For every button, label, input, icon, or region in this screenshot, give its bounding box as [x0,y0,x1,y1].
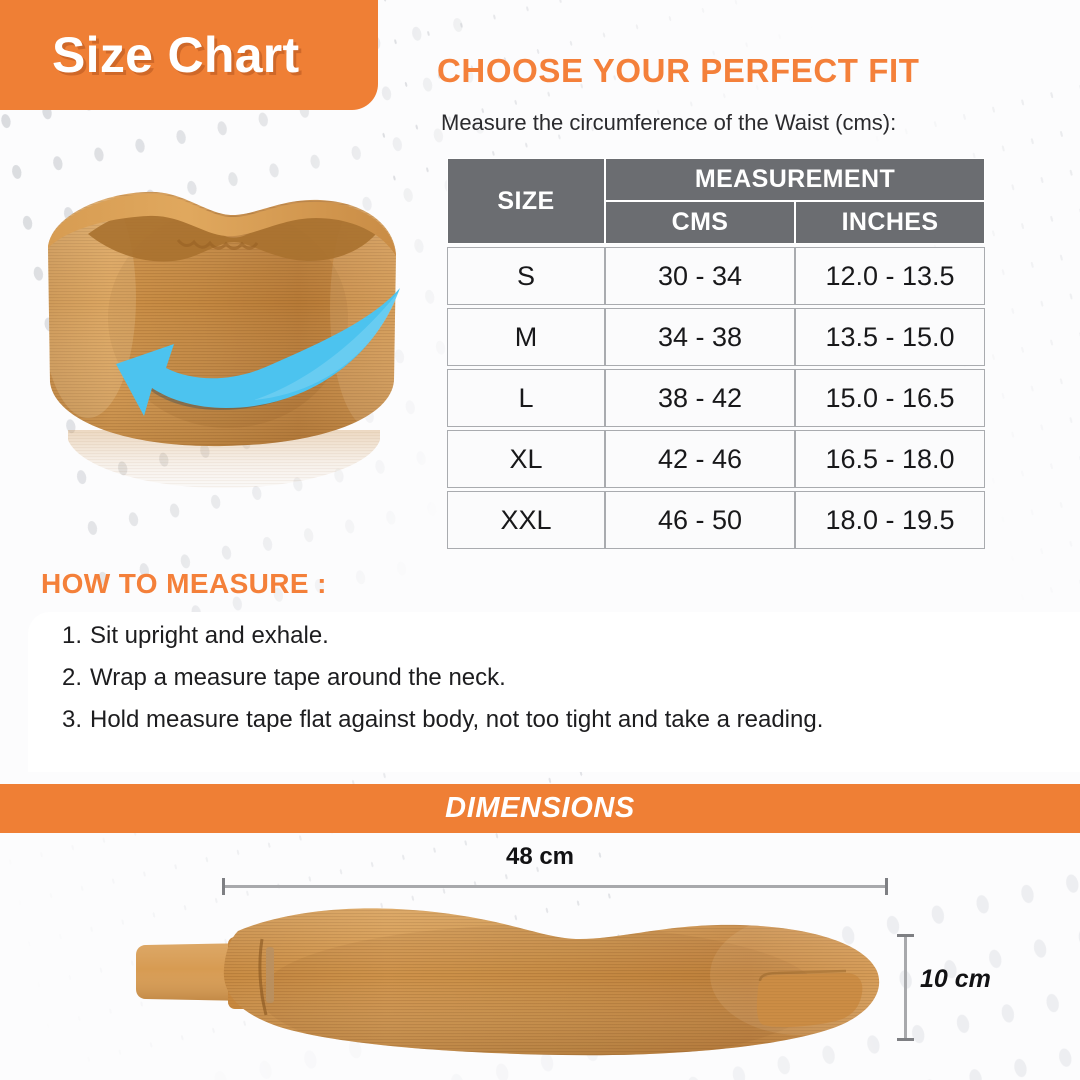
column-header-measurement: MEASUREMENT [605,158,985,201]
size-chart-table: SIZE MEASUREMENT CMS INCHES S 30 - 34 12… [447,158,985,549]
cervical-collar-flat-photo [110,895,910,1075]
size-chart-title-banner: Size Chart [0,0,378,110]
collar-body [28,168,418,468]
table-row: XL 42 - 46 16.5 - 18.0 [447,430,985,488]
list-item-text: Wrap a measure tape around the neck. [90,664,506,692]
list-item-number: 3. [62,706,90,734]
headline-choose-your-perfect-fit: CHOOSE YOUR PERFECT FIT [437,52,920,90]
length-measurement-line [222,885,888,888]
table-row: S 30 - 34 12.0 - 13.5 [447,247,985,305]
cell-cms: 42 - 46 [605,430,795,488]
cell-cms: 38 - 42 [605,369,795,427]
collar-flat-body [210,895,910,1075]
dimensions-banner-label: DIMENSIONS [445,792,635,825]
cell-size: M [447,308,605,366]
table-row: XXL 46 - 50 18.0 - 19.5 [447,491,985,549]
cell-size: S [447,247,605,305]
list-item-number: 1. [62,622,90,650]
cell-inches: 16.5 - 18.0 [795,430,985,488]
subheading-measure-instruction: Measure the circumference of the Waist (… [441,110,896,136]
list-item-text: Sit upright and exhale. [90,622,329,650]
cell-inches: 15.0 - 16.5 [795,369,985,427]
dimensions-banner: DIMENSIONS [0,784,1080,833]
list-item: 2. Wrap a measure tape around the neck. [62,664,823,692]
column-header-size: SIZE [447,158,605,244]
cell-size: XXL [447,491,605,549]
cell-cms: 30 - 34 [605,247,795,305]
cell-inches: 13.5 - 15.0 [795,308,985,366]
page-title: Size Chart [52,26,300,84]
cervical-collar-photo [28,168,418,528]
cell-cms: 34 - 38 [605,308,795,366]
table-header: SIZE MEASUREMENT CMS INCHES [447,158,985,244]
table-row: M 34 - 38 13.5 - 15.0 [447,308,985,366]
table-body: S 30 - 34 12.0 - 13.5 M 34 - 38 13.5 - 1… [447,244,985,549]
length-measurement-label: 48 cm [0,843,1080,871]
list-item-number: 2. [62,664,90,692]
cell-inches: 12.0 - 13.5 [795,247,985,305]
list-item-text: Hold measure tape flat against body, not… [90,706,823,734]
column-header-inches: INCHES [795,201,985,244]
height-measurement-label: 10 cm [920,965,991,994]
cell-size: L [447,369,605,427]
size-chart-infographic: Size Chart CHOOSE YOUR PERFECT FIT Measu… [0,0,1080,1080]
cell-size: XL [447,430,605,488]
height-measurement-line [904,934,907,1041]
how-to-measure-heading: HOW TO MEASURE : [41,568,327,600]
list-item: 3. Hold measure tape flat against body, … [62,706,823,734]
cell-inches: 18.0 - 19.5 [795,491,985,549]
table-header-row-1: SIZE MEASUREMENT [447,158,985,201]
table-row: L 38 - 42 15.0 - 16.5 [447,369,985,427]
how-to-measure-list: 1. Sit upright and exhale. 2. Wrap a mea… [62,622,823,748]
list-item: 1. Sit upright and exhale. [62,622,823,650]
cell-cms: 46 - 50 [605,491,795,549]
column-header-cms: CMS [605,201,795,244]
